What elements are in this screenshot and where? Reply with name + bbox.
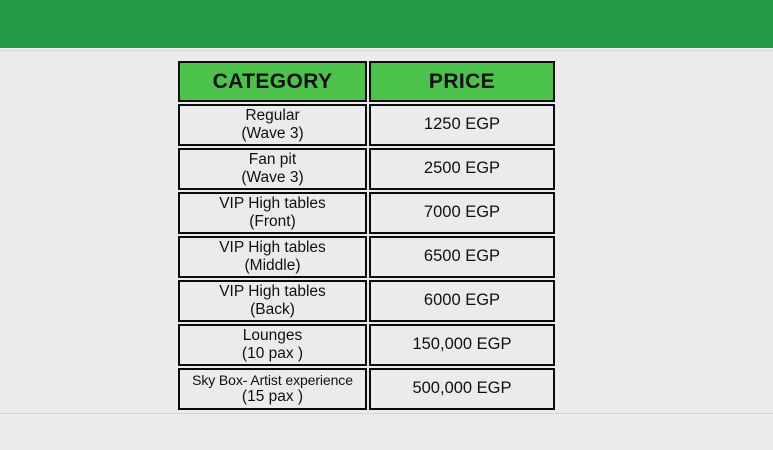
top-green-banner [0, 0, 773, 48]
price-cell: 150,000 EGP [369, 324, 555, 366]
price-cell: 2500 EGP [369, 148, 555, 190]
category-cell: VIP High tables (Back) [178, 280, 367, 322]
price-cell: 500,000 EGP [369, 368, 555, 410]
table-row: VIP High tables (Back) 6000 EGP [178, 280, 555, 322]
category-secondary-label: (Front) [180, 213, 365, 231]
category-primary-label: VIP High tables [180, 195, 365, 213]
category-secondary-label: (Wave 3) [180, 125, 365, 143]
price-cell: 6000 EGP [369, 280, 555, 322]
table-row: VIP High tables (Front) 7000 EGP [178, 192, 555, 234]
bottom-divider-line [0, 413, 773, 414]
category-primary-label: Lounges [180, 327, 365, 345]
category-primary-label: VIP High tables [180, 239, 365, 257]
table-row: Regular (Wave 3) 1250 EGP [178, 104, 555, 146]
table-row: Sky Box- Artist experience (15 pax ) 500… [178, 368, 555, 410]
category-cell: Lounges (10 pax ) [178, 324, 367, 366]
ticket-price-table: CATEGORY PRICE Regular (Wave 3) 1250 EGP… [176, 59, 557, 412]
column-header-price: PRICE [369, 61, 555, 102]
category-cell: VIP High tables (Front) [178, 192, 367, 234]
category-primary-label: Regular [180, 107, 365, 125]
category-secondary-label: (Wave 3) [180, 169, 365, 187]
category-secondary-label: (15 pax ) [180, 388, 365, 406]
category-primary-label: Sky Box- Artist experience [180, 372, 365, 389]
table-row: Fan pit (Wave 3) 2500 EGP [178, 148, 555, 190]
top-divider-line [0, 50, 773, 51]
category-secondary-label: (Back) [180, 301, 365, 319]
table-header-row: CATEGORY PRICE [178, 61, 555, 102]
category-cell: Regular (Wave 3) [178, 104, 367, 146]
column-header-category: CATEGORY [178, 61, 367, 102]
category-cell: VIP High tables (Middle) [178, 236, 367, 278]
category-primary-label: Fan pit [180, 151, 365, 169]
table-row: Lounges (10 pax ) 150,000 EGP [178, 324, 555, 366]
category-cell: Sky Box- Artist experience (15 pax ) [178, 368, 367, 410]
table-row: VIP High tables (Middle) 6500 EGP [178, 236, 555, 278]
price-cell: 1250 EGP [369, 104, 555, 146]
category-secondary-label: (Middle) [180, 257, 365, 275]
category-cell: Fan pit (Wave 3) [178, 148, 367, 190]
price-cell: 6500 EGP [369, 236, 555, 278]
price-cell: 7000 EGP [369, 192, 555, 234]
category-secondary-label: (10 pax ) [180, 345, 365, 363]
category-primary-label: VIP High tables [180, 283, 365, 301]
